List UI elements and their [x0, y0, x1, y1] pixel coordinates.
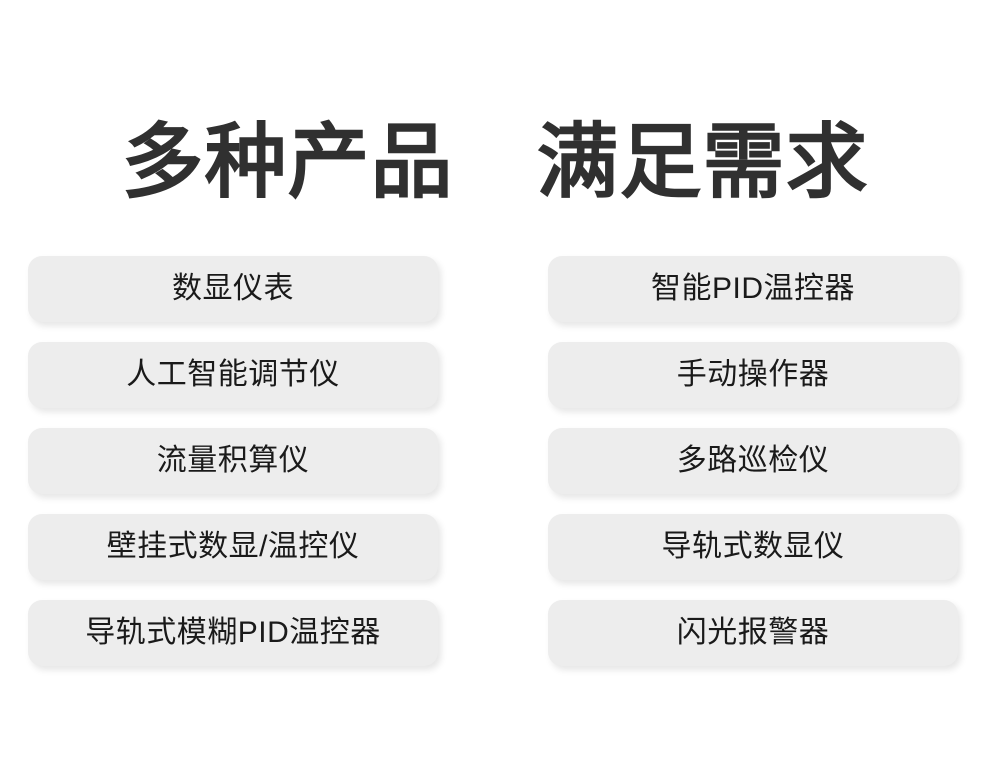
product-category-label: 多路巡检仪	[677, 446, 830, 476]
product-category-label: 人工智能调节仪	[126, 360, 340, 390]
product-category-button[interactable]: 导轨式模糊PID温控器	[28, 600, 438, 666]
product-categories-page: 多种产品 满足需求 数显仪表 智能PID温控器 人工智能调节仪 手动操作器 流量…	[0, 0, 990, 768]
product-category-button[interactable]: 人工智能调节仪	[28, 342, 438, 408]
product-category-label: 手动操作器	[677, 360, 830, 390]
product-category-label: 导轨式模糊PID温控器	[85, 618, 381, 648]
product-category-button[interactable]: 多路巡检仪	[548, 428, 958, 494]
product-category-label: 流量积算仪	[157, 446, 310, 476]
product-category-button[interactable]: 手动操作器	[548, 342, 958, 408]
page-title-container: 多种产品 满足需求	[0, 62, 990, 264]
product-category-label: 数显仪表	[172, 274, 294, 304]
product-category-button[interactable]: 壁挂式数显/温控仪	[28, 514, 438, 580]
page-title: 多种产品 满足需求	[121, 117, 868, 209]
product-category-label: 闪光报警器	[677, 618, 830, 648]
product-category-button[interactable]: 数显仪表	[28, 256, 438, 322]
product-category-button[interactable]: 导轨式数显仪	[548, 514, 958, 580]
product-category-button[interactable]: 闪光报警器	[548, 600, 958, 666]
product-category-button[interactable]: 流量积算仪	[28, 428, 438, 494]
product-category-label: 导轨式数显仪	[662, 532, 845, 562]
product-category-button[interactable]: 智能PID温控器	[548, 256, 958, 322]
product-category-label: 智能PID温控器	[651, 274, 855, 304]
product-category-label: 壁挂式数显/温控仪	[107, 532, 360, 562]
product-category-grid: 数显仪表 智能PID温控器 人工智能调节仪 手动操作器 流量积算仪 多路巡检仪 …	[28, 256, 958, 666]
